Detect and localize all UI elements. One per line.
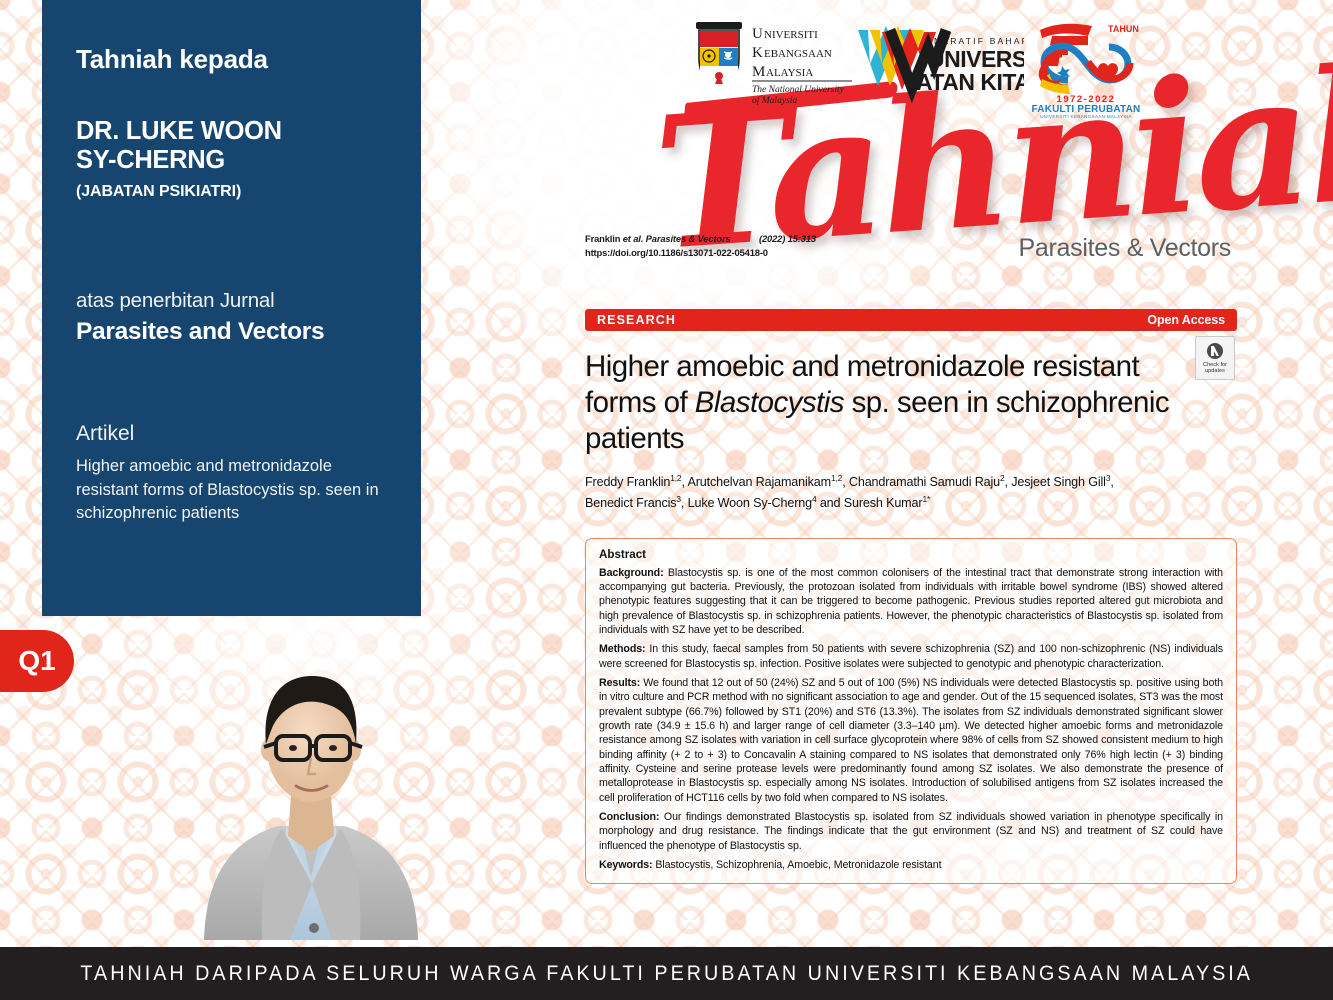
svg-text:K: K xyxy=(752,45,763,61)
article-title: Higher amoebic and metronidazole resista… xyxy=(76,455,387,525)
bottom-banner-text: TAHNIAH DARIPADA SELURUH WARGA FAKULTI P… xyxy=(80,962,1253,986)
bottom-banner: TAHNIAH DARIPADA SELURUH WARGA FAKULTI P… xyxy=(0,947,1333,1000)
abstract-conclusion-text: Our findings demonstrated Blastocystis s… xyxy=(599,811,1223,852)
abstract-keywords-text: Blastocystis, Schizophrenia, Amoebic, Me… xyxy=(653,859,942,871)
congratulations-panel: Tahniah kepada DR. LUKE WOON SY-CHERNG (… xyxy=(42,0,421,616)
abstract-methods: Methods: In this study, faecal samples f… xyxy=(599,642,1223,671)
abstract-background-label: Background: xyxy=(599,567,664,579)
journal-name: Parasites and Vectors xyxy=(76,318,387,346)
author-line-2: Benedict Francis3, Luke Woon Sy-Cherng4 … xyxy=(585,493,1237,514)
citation-line: Franklin et al. Parasites & Vectors (202… xyxy=(585,232,1237,246)
svg-text:The National University: The National University xyxy=(752,85,845,95)
abstract-keywords-label: Keywords: xyxy=(599,859,653,871)
ukm-crest-logo: U NIVERSITI K EBANGSAAN M ALAYSIA The Na… xyxy=(686,18,856,115)
crossmark-icon xyxy=(1206,342,1224,360)
author-name: , Luke Woon Sy-Cherng xyxy=(681,496,812,510)
svg-text:of Malaysia: of Malaysia xyxy=(752,95,797,106)
abstract-background: Background: Blastocystis sp. is one of t… xyxy=(599,566,1223,638)
quartile-badge: Q1 xyxy=(0,630,74,692)
doi-link[interactable]: https://doi.org/10.1186/s13071-022-05418… xyxy=(585,246,1237,260)
page-title: Higher amoebic and metronidazole resista… xyxy=(585,349,1237,457)
svg-text:UNIVERSITI KEBANGSAAN MALAYSIA: UNIVERSITI KEBANGSAAN MALAYSIA xyxy=(1040,114,1132,119)
research-label: RESEARCH xyxy=(597,313,676,327)
honoree-name-line1: DR. LUKE WOON xyxy=(76,117,387,146)
publication-prefix: atas penerbitan Jurnal xyxy=(76,289,387,313)
portrait-illustration xyxy=(186,640,436,940)
author-sep: , xyxy=(1110,475,1113,489)
check-for-updates-badge[interactable]: Check for updates xyxy=(1195,336,1235,380)
author-affil: 1,2 xyxy=(670,473,681,483)
research-open-access-bar: RESEARCH Open Access xyxy=(585,309,1237,331)
abstract-conclusion-label: Conclusion: xyxy=(599,811,659,823)
svg-text:NARATIF BAHARU UKM: NARATIF BAHARU UKM xyxy=(934,36,1024,46)
abstract-results: Results: We found that 12 out of 50 (24%… xyxy=(599,676,1223,805)
quartile-badge-label: Q1 xyxy=(18,645,55,677)
avatar xyxy=(186,640,436,940)
universiti-watan-kita-logo: NARATIF BAHARU UKM UNIVERSITI ATAN KITA xyxy=(854,24,1024,111)
watan-kita-icon: NARATIF BAHARU UKM UNIVERSITI ATAN KITA xyxy=(854,24,1024,106)
abstract-methods-text: In this study, faecal samples from 50 pa… xyxy=(599,643,1223,669)
author-affil: 1,2 xyxy=(831,473,842,483)
svg-text:EBANGSAAN: EBANGSAAN xyxy=(764,48,832,60)
logo-row: U NIVERSITI K EBANGSAAN M ALAYSIA The Na… xyxy=(686,14,1166,114)
citation-etal: et al. xyxy=(623,233,643,244)
author-affil: 1* xyxy=(922,494,930,504)
citation-journal: Parasites & Vectors xyxy=(646,233,731,244)
abstract-background-text: Blastocystis sp. is one of the most comm… xyxy=(599,567,1223,636)
author-name: , Jesjeet Singh Gill xyxy=(1005,475,1106,489)
congrats-heading: Tahniah kepada xyxy=(76,44,387,75)
svg-text:NIVERSITI: NIVERSITI xyxy=(764,29,818,41)
honoree-name: DR. LUKE WOON SY-CHERNG xyxy=(76,117,387,175)
abstract-heading: Abstract xyxy=(599,548,1223,561)
abstract-results-text: We found that 12 out of 50 (24%) SZ and … xyxy=(599,677,1223,804)
svg-text:ALAYSIA: ALAYSIA xyxy=(766,67,813,79)
abstract-results-label: Results: xyxy=(599,677,640,689)
citation-authors: Franklin xyxy=(585,233,620,244)
paper-title-italic: Blastocystis xyxy=(695,386,844,419)
abstract-keywords: Keywords: Blastocystis, Schizophrenia, A… xyxy=(599,858,1223,872)
open-access-label: Open Access xyxy=(1147,313,1225,327)
author-name: Freddy Franklin xyxy=(585,475,670,489)
honoree-name-line2: SY-CHERNG xyxy=(76,146,387,175)
crossmark-text: Check for updates xyxy=(1203,362,1227,375)
abstract-box: Abstract Background: Blastocystis sp. is… xyxy=(585,538,1237,885)
author-list: Freddy Franklin1,2, Arutchelvan Rajamani… xyxy=(585,472,1237,513)
honoree-department: (JABATAN PSIKIATRI) xyxy=(76,183,387,201)
svg-text:ATAN KITA: ATAN KITA xyxy=(916,69,1024,95)
author-name: Benedict Francis xyxy=(585,496,676,510)
author-name: , Chandramathi Samudi Raju xyxy=(842,475,1000,489)
svg-text:M: M xyxy=(752,64,765,80)
article-label: Artikel xyxy=(76,422,387,446)
citation-year-volume: (2022) 15:313 xyxy=(759,232,816,246)
author-name: and Suresh Kumar xyxy=(816,496,922,510)
50-tahun-icon: TAHUN 1972-2022 FAKULTI PERUBATAN UNIVER… xyxy=(1022,14,1150,120)
abstract-conclusion: Conclusion: Our findings demonstrated Bl… xyxy=(599,810,1223,853)
author-name: , Arutchelvan Rajamanikam xyxy=(681,475,831,489)
svg-text:TAHUN: TAHUN xyxy=(1108,24,1139,34)
abstract-methods-label: Methods: xyxy=(599,643,646,655)
journal-article-preview: Franklin et al. Parasites & Vectors (202… xyxy=(585,232,1237,884)
svg-text:U: U xyxy=(752,26,763,42)
ukm-crest-icon: U NIVERSITI K EBANGSAAN M ALAYSIA The Na… xyxy=(686,18,856,110)
50-tahun-fakulti-perubatan-logo: TAHUN 1972-2022 FAKULTI PERUBATAN UNIVER… xyxy=(1022,14,1150,125)
crossmark-line2: updates xyxy=(1203,368,1227,374)
author-line-1: Freddy Franklin1,2, Arutchelvan Rajamani… xyxy=(585,472,1237,493)
